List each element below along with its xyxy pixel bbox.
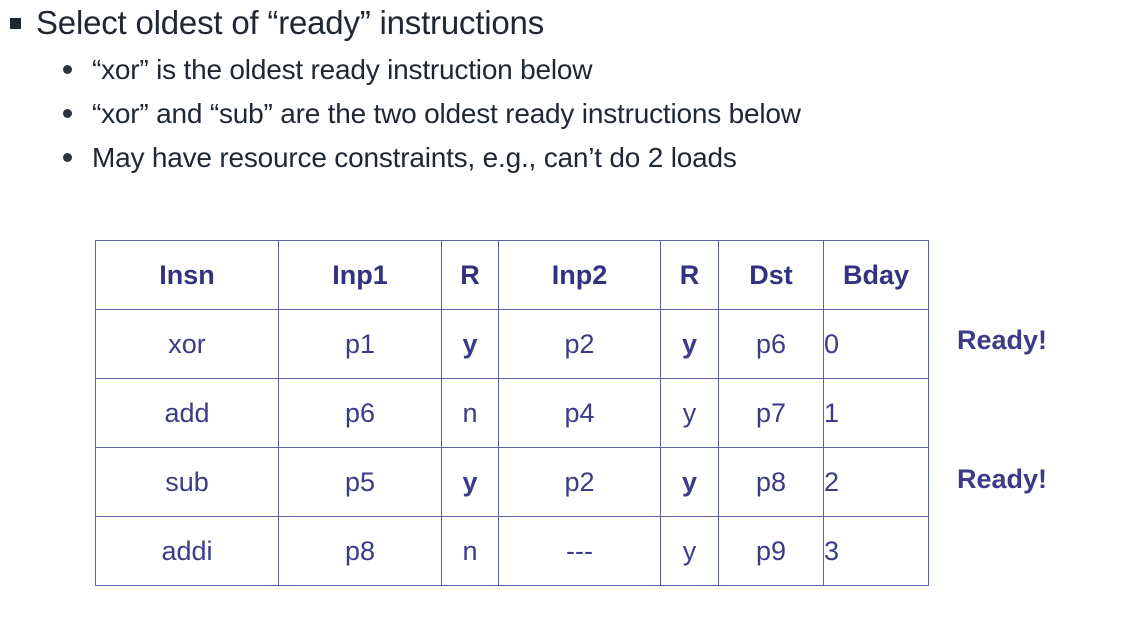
bullet-text: “xor” is the oldest ready instruction be… <box>92 54 592 85</box>
table-row: sub p5 y p2 y p8 2 <box>96 448 929 517</box>
cell-ready1: n <box>442 379 499 448</box>
dot-bullet-icon <box>63 153 72 162</box>
cell-inp2: p2 <box>499 310 661 379</box>
table-row: add p6 n p4 y p7 1 <box>96 379 929 448</box>
bullet-list: Select oldest of “ready” instructions “x… <box>0 0 1129 176</box>
bullet-text: May have resource constraints, e.g., can… <box>92 142 737 173</box>
table-row: xor p1 y p2 y p6 0 <box>96 310 929 379</box>
cell-inp2: p2 <box>499 448 661 517</box>
cell-insn: sub <box>96 448 279 517</box>
cell-dst: p6 <box>719 310 824 379</box>
cell-inp1: p8 <box>279 517 442 586</box>
table-row: addi p8 n --- y p9 3 <box>96 517 929 586</box>
cell-ready2: y <box>661 517 719 586</box>
column-header-insn: Insn <box>96 241 279 310</box>
column-header-inp1: Inp1 <box>279 241 442 310</box>
table-header-row: Insn Inp1 R Inp2 R Dst Bday <box>96 241 929 310</box>
cell-insn: addi <box>96 517 279 586</box>
bullet-level1-item: Select oldest of “ready” instructions <box>0 2 1129 44</box>
ready-annotation-sub: Ready! <box>957 464 1047 495</box>
cell-dst: p9 <box>719 517 824 586</box>
cell-ready1: y <box>442 310 499 379</box>
cell-ready1: n <box>442 517 499 586</box>
column-header-inp2: Inp2 <box>499 241 661 310</box>
bullet-level2-item: “xor” is the oldest ready instruction be… <box>0 51 1129 88</box>
bullet-text: Select oldest of “ready” instructions <box>36 4 544 41</box>
cell-inp1: p5 <box>279 448 442 517</box>
cell-bday: 1 <box>824 379 929 448</box>
cell-insn: add <box>96 379 279 448</box>
square-bullet-icon <box>10 18 21 29</box>
column-header-r2: R <box>661 241 719 310</box>
cell-dst: p8 <box>719 448 824 517</box>
cell-inp1: p6 <box>279 379 442 448</box>
cell-inp2: --- <box>499 517 661 586</box>
cell-inp2: p4 <box>499 379 661 448</box>
cell-bday: 2 <box>824 448 929 517</box>
cell-ready2: y <box>661 310 719 379</box>
cell-bday: 3 <box>824 517 929 586</box>
column-header-bday: Bday <box>824 241 929 310</box>
cell-inp1: p1 <box>279 310 442 379</box>
dot-bullet-icon <box>63 65 72 74</box>
dot-bullet-icon <box>63 109 72 118</box>
cell-ready1: y <box>442 448 499 517</box>
instruction-window-table: Insn Inp1 R Inp2 R Dst Bday xor p1 y p2 … <box>95 240 929 586</box>
cell-insn: xor <box>96 310 279 379</box>
bullet-text: “xor” and “sub” are the two oldest ready… <box>92 98 801 129</box>
cell-ready2: y <box>661 448 719 517</box>
cell-bday: 0 <box>824 310 929 379</box>
bullet-level2-item: “xor” and “sub” are the two oldest ready… <box>0 95 1129 132</box>
cell-ready2: y <box>661 379 719 448</box>
cell-dst: p7 <box>719 379 824 448</box>
ready-annotation-xor: Ready! <box>957 325 1047 356</box>
bullet-level2-item: May have resource constraints, e.g., can… <box>0 139 1129 176</box>
column-header-r1: R <box>442 241 499 310</box>
column-header-dst: Dst <box>719 241 824 310</box>
